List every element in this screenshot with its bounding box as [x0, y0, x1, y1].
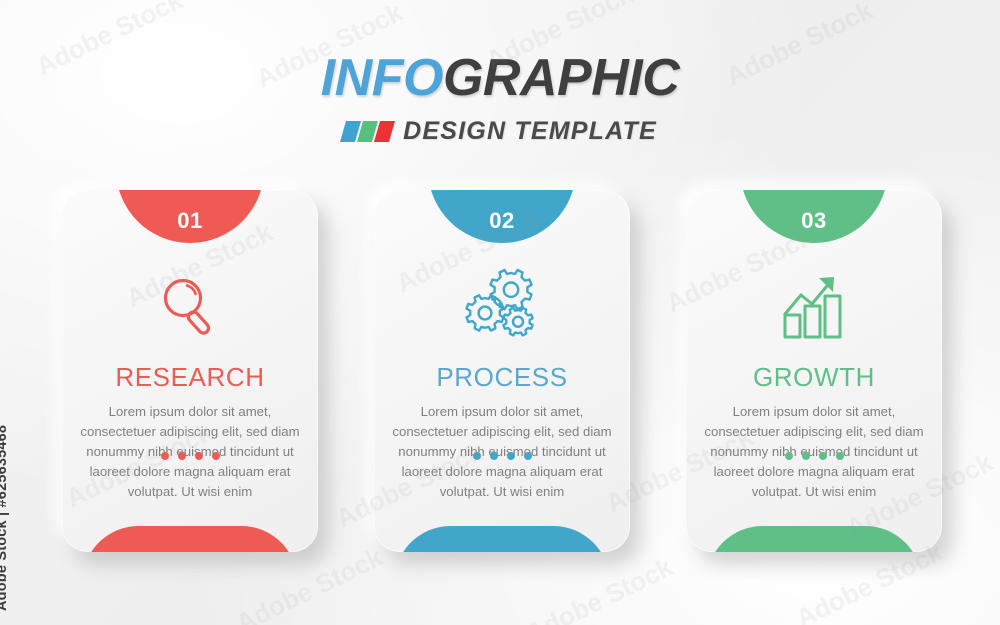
step-number: 02 — [489, 208, 514, 234]
header: INFOGRAPHIC DESIGN TEMPLATE — [0, 52, 1000, 146]
dot — [802, 452, 810, 460]
growth-chart-icon — [686, 260, 942, 352]
dots-indicator — [686, 452, 942, 460]
accent-bar-red — [374, 121, 395, 142]
infographic-canvas: INFOGRAPHIC DESIGN TEMPLATE 01 — [0, 0, 1000, 625]
card-title: PROCESS — [374, 362, 630, 393]
dot — [507, 452, 515, 460]
dot — [195, 452, 203, 460]
stock-watermark-tile: Adobe Stock — [231, 542, 387, 625]
dot — [212, 452, 220, 460]
step-badge: 01 — [116, 190, 264, 243]
dot — [473, 452, 481, 460]
dot — [836, 452, 844, 460]
card-title: GROWTH — [686, 362, 942, 393]
dot — [819, 452, 827, 460]
card-research[interactable]: 01 RESEARCH Lorem ipsum dolor sit amet, … — [62, 190, 318, 552]
step-number: 01 — [177, 208, 202, 234]
magnifier-icon — [62, 260, 318, 352]
dot — [785, 452, 793, 460]
dots-indicator — [62, 452, 318, 460]
step-number: 03 — [801, 208, 826, 234]
bottom-accent-arc — [707, 526, 922, 552]
accent-bars-icon — [343, 121, 392, 142]
card-list: 01 RESEARCH Lorem ipsum dolor sit amet, … — [62, 190, 942, 552]
bottom-accent-arc — [395, 526, 610, 552]
card-process[interactable]: 02 — [374, 190, 630, 552]
dots-indicator — [374, 452, 630, 460]
dot — [178, 452, 186, 460]
dot — [524, 452, 532, 460]
subtitle-row: DESIGN TEMPLATE — [0, 117, 1000, 146]
dot — [490, 452, 498, 460]
card-growth[interactable]: 03 GROWTH Lorem ipsum dolor sit amet, co… — [686, 190, 942, 552]
bottom-accent-arc — [83, 526, 298, 552]
page-title: INFOGRAPHIC — [0, 52, 1000, 104]
title-part-graphic: GRAPHIC — [443, 49, 679, 107]
gears-icon — [374, 260, 630, 352]
title-part-info: INFO — [321, 49, 443, 107]
page-subtitle: DESIGN TEMPLATE — [403, 117, 657, 146]
stock-id-watermark: Adobe Stock | #625635468 — [0, 425, 10, 611]
dot — [161, 452, 169, 460]
step-badge: 02 — [428, 190, 576, 243]
card-title: RESEARCH — [62, 362, 318, 393]
step-badge: 03 — [740, 190, 888, 243]
stock-watermark-tile: Adobe Stock — [521, 552, 677, 625]
